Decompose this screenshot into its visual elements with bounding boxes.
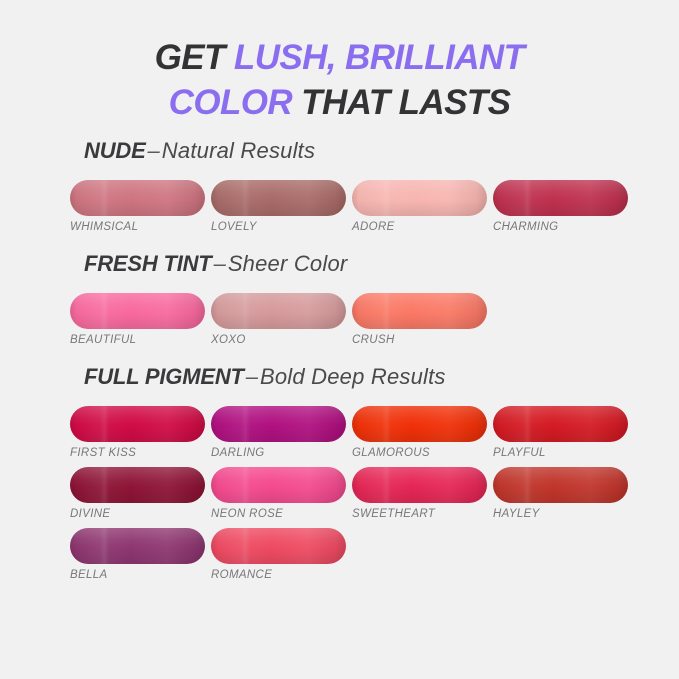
swatch-cell-crush[interactable]: CRUSH bbox=[352, 293, 487, 346]
headline-segment-color: COLOR bbox=[169, 83, 292, 122]
swatch-color-xoxo[interactable] bbox=[211, 293, 346, 329]
swatch-color-adore[interactable] bbox=[352, 180, 487, 216]
swatch-color-lovely[interactable] bbox=[211, 180, 346, 216]
swatch-color-divine[interactable] bbox=[70, 467, 205, 503]
swatch-cell-first-kiss[interactable]: FIRST KISS bbox=[70, 406, 205, 459]
swatch-cell-playful[interactable]: PLAYFUL bbox=[493, 406, 628, 459]
shade-sections: NUDE–Natural Results WHIMSICAL LOVELY AD… bbox=[0, 126, 679, 581]
swatch-cell-beautiful[interactable]: BEAUTIFUL bbox=[70, 293, 205, 346]
swatch-color-darling[interactable] bbox=[211, 406, 346, 442]
swatch-cell-romance[interactable]: ROMANCE bbox=[211, 528, 346, 581]
swatch-cell-hayley[interactable]: HAYLEY bbox=[493, 467, 628, 520]
swatch-label-romance: ROMANCE bbox=[211, 569, 346, 581]
swatch-cell-xoxo[interactable]: XOXO bbox=[211, 293, 346, 346]
headline-segment-get: GET bbox=[155, 38, 234, 77]
swatch-label-charming: CHARMING bbox=[493, 221, 628, 233]
swatch-cell-adore[interactable]: ADORE bbox=[352, 180, 487, 233]
shade-chart-page: GET LUSH, BRILLIANT COLOR THAT LASTS NUD… bbox=[0, 0, 679, 679]
swatch-grid-nude: WHIMSICAL LOVELY ADORE CHARMING bbox=[70, 180, 679, 233]
swatch-color-sweetheart[interactable] bbox=[352, 467, 487, 503]
section-dash-fresh-tint: – bbox=[212, 251, 228, 276]
section-header-full-pigment: FULL PIGMENT–Bold Deep Results bbox=[84, 366, 679, 388]
section-dash-full-pigment: – bbox=[244, 364, 260, 389]
swatch-label-sweetheart: SWEETHEART bbox=[352, 508, 487, 520]
section-nude: NUDE–Natural Results WHIMSICAL LOVELY AD… bbox=[0, 140, 679, 233]
swatch-label-darling: DARLING bbox=[211, 447, 346, 459]
swatch-color-first-kiss[interactable] bbox=[70, 406, 205, 442]
swatch-color-hayley[interactable] bbox=[493, 467, 628, 503]
section-full-pigment: FULL PIGMENT–Bold Deep Results FIRST KIS… bbox=[0, 366, 679, 581]
swatch-label-neon-rose: NEON ROSE bbox=[211, 508, 346, 520]
swatch-cell-glamorous[interactable]: GLAMOROUS bbox=[352, 406, 487, 459]
swatch-cell-divine[interactable]: DIVINE bbox=[70, 467, 205, 520]
swatch-label-adore: ADORE bbox=[352, 221, 487, 233]
section-subtitle-nude: Natural Results bbox=[162, 138, 315, 163]
swatch-color-neon-rose[interactable] bbox=[211, 467, 346, 503]
headline-line-1: GET LUSH, BRILLIANT bbox=[62, 36, 617, 81]
swatch-label-beautiful: BEAUTIFUL bbox=[70, 334, 205, 346]
section-subtitle-fresh-tint: Sheer Color bbox=[228, 251, 348, 276]
swatch-label-crush: CRUSH bbox=[352, 334, 487, 346]
swatch-cell-sweetheart[interactable]: SWEETHEART bbox=[352, 467, 487, 520]
swatch-cell-neon-rose[interactable]: NEON ROSE bbox=[211, 467, 346, 520]
swatch-label-playful: PLAYFUL bbox=[493, 447, 628, 459]
headline-segment-that-lasts: THAT LASTS bbox=[292, 83, 510, 122]
headline-segment-lush-brilliant: LUSH, BRILLIANT bbox=[234, 38, 524, 77]
swatch-cell-whimsical[interactable]: WHIMSICAL bbox=[70, 180, 205, 233]
swatch-color-glamorous[interactable] bbox=[352, 406, 487, 442]
section-title-fresh-tint: FRESH TINT bbox=[84, 251, 212, 276]
swatch-color-crush[interactable] bbox=[352, 293, 487, 329]
swatch-color-charming[interactable] bbox=[493, 180, 628, 216]
section-subtitle-full-pigment: Bold Deep Results bbox=[260, 364, 446, 389]
swatch-label-hayley: HAYLEY bbox=[493, 508, 628, 520]
swatch-label-xoxo: XOXO bbox=[211, 334, 346, 346]
section-dash-nude: – bbox=[146, 138, 162, 163]
swatch-color-whimsical[interactable] bbox=[70, 180, 205, 216]
swatch-label-first-kiss: FIRST KISS bbox=[70, 447, 205, 459]
swatch-cell-darling[interactable]: DARLING bbox=[211, 406, 346, 459]
swatch-color-romance[interactable] bbox=[211, 528, 346, 564]
swatch-color-bella[interactable] bbox=[70, 528, 205, 564]
swatch-label-bella: BELLA bbox=[70, 569, 205, 581]
swatch-label-glamorous: GLAMOROUS bbox=[352, 447, 487, 459]
swatch-label-lovely: LOVELY bbox=[211, 221, 346, 233]
swatch-label-whimsical: WHIMSICAL bbox=[70, 221, 205, 233]
swatch-grid-fresh-tint: BEAUTIFUL XOXO CRUSH bbox=[70, 293, 679, 346]
swatch-cell-bella[interactable]: BELLA bbox=[70, 528, 205, 581]
swatch-color-beautiful[interactable] bbox=[70, 293, 205, 329]
section-fresh-tint: FRESH TINT–Sheer Color BEAUTIFUL XOXO CR… bbox=[0, 253, 679, 346]
swatch-cell-charming[interactable]: CHARMING bbox=[493, 180, 628, 233]
section-header-fresh-tint: FRESH TINT–Sheer Color bbox=[84, 253, 679, 275]
section-title-full-pigment: FULL PIGMENT bbox=[84, 364, 244, 389]
swatch-grid-full-pigment: FIRST KISS DARLING GLAMOROUS PLAYFUL DIV… bbox=[70, 406, 679, 581]
section-title-nude: NUDE bbox=[84, 138, 146, 163]
swatch-cell-lovely[interactable]: LOVELY bbox=[211, 180, 346, 233]
page-headline: GET LUSH, BRILLIANT COLOR THAT LASTS bbox=[0, 0, 679, 126]
swatch-label-divine: DIVINE bbox=[70, 508, 205, 520]
headline-line-2: COLOR THAT LASTS bbox=[62, 81, 617, 126]
section-header-nude: NUDE–Natural Results bbox=[84, 140, 679, 162]
swatch-color-playful[interactable] bbox=[493, 406, 628, 442]
